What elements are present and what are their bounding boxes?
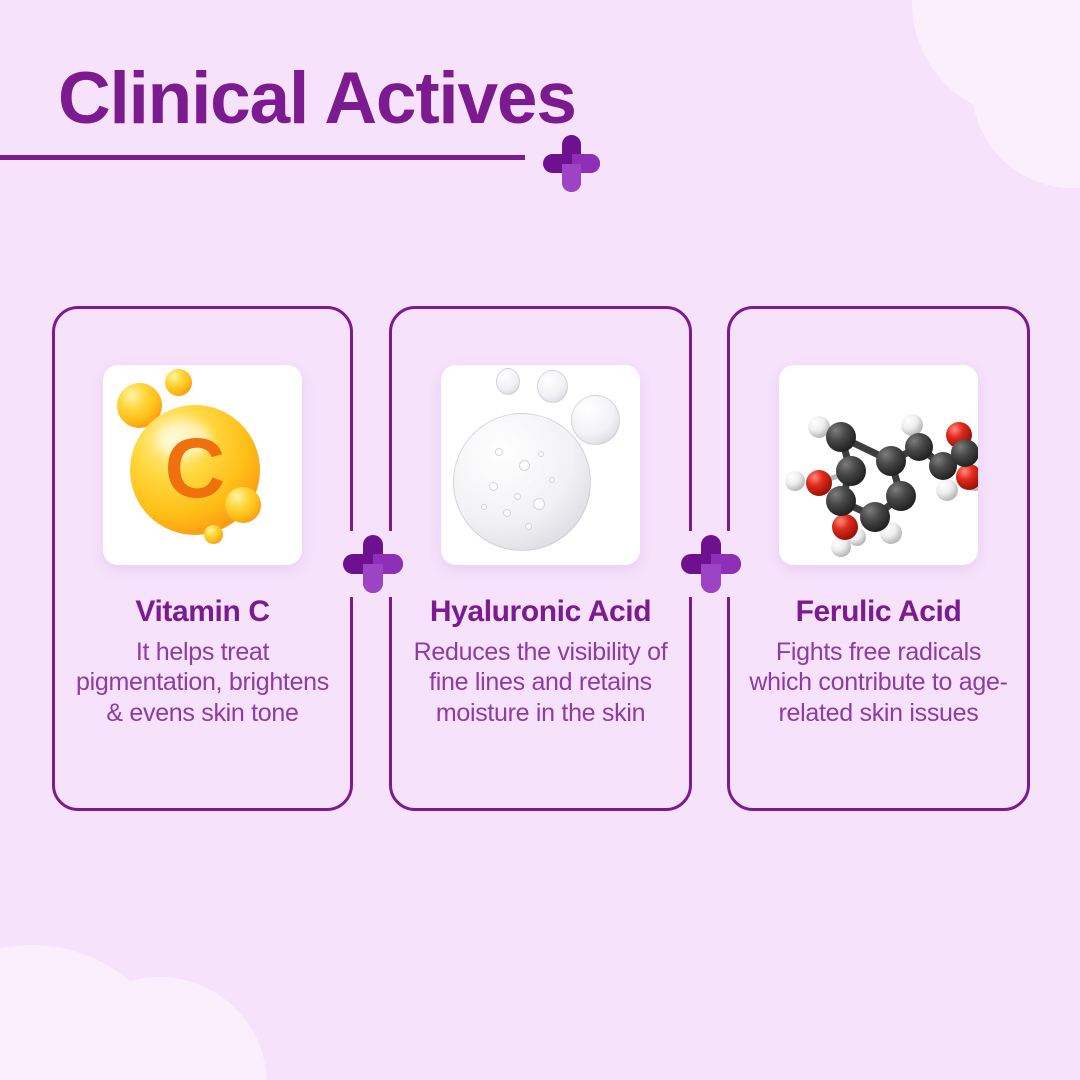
gel-bubble: [514, 493, 521, 500]
plus-cross-icon: [343, 535, 403, 593]
ingredient-name: Vitamin C: [135, 596, 269, 628]
plus-bottom-lobe: [701, 564, 721, 593]
plus-bottom-lobe: [363, 564, 383, 593]
ingredient-card-vitamin-c[interactable]: C Vitamin C It helps treat pigmentation,…: [52, 306, 353, 811]
plus-bottom-lobe: [562, 164, 581, 193]
gel-droplet-3: [571, 395, 620, 445]
vitamin-c-bubble-2: [165, 369, 192, 396]
card-connector-2: [665, 531, 757, 597]
header: Clinical Actives: [0, 62, 1080, 192]
gel-bubble: [503, 509, 511, 517]
ingredient-name: Ferulic Acid: [796, 596, 962, 628]
gel-bubble: [495, 448, 503, 456]
gel-main-droplet: [453, 413, 591, 551]
title-underline-rule: [0, 155, 525, 160]
card-connector-1: [327, 531, 419, 597]
gel-bubble: [525, 523, 532, 530]
plus-cross-icon: [543, 135, 600, 192]
ferulic-acid-molecule-image: [779, 365, 978, 565]
ingredient-description: Reduces the visibility of fine lines and…: [407, 637, 675, 729]
ingredient-description: It helps treat pigmentation, brightens &…: [69, 637, 336, 729]
decorative-circle-bottom-left-2: [0, 945, 182, 1080]
ingredient-card-hyaluronic-acid[interactable]: Hyaluronic Acid Reduces the visibility o…: [389, 306, 692, 811]
hyaluronic-acid-gel-droplet-image: [441, 365, 640, 565]
gel-bubble: [549, 477, 555, 483]
vitamin-c-bubble-4: [204, 525, 223, 544]
plus-cross-icon: [681, 535, 741, 593]
ingredient-name: Hyaluronic Acid: [430, 596, 651, 628]
vitamin-c-bubble-3: [225, 487, 261, 523]
vitamin-c-sphere-image: C: [103, 365, 302, 565]
gel-bubble: [538, 451, 544, 457]
gel-droplet-2: [537, 370, 568, 403]
gel-bubble: [533, 498, 545, 510]
ingredient-card-ferulic-acid[interactable]: Ferulic Acid Fights free radicals which …: [727, 306, 1030, 811]
gel-bubble: [481, 504, 487, 510]
gel-droplet-1: [496, 368, 520, 395]
molecule-diagram-icon: [779, 365, 978, 565]
page-title: Clinical Actives: [58, 62, 576, 135]
poster-canvas: Clinical Actives C Vitamin C It helps tr…: [0, 0, 1080, 1080]
gel-bubble: [519, 460, 530, 471]
gel-bubble: [489, 482, 498, 491]
ingredient-description: Fights free radicals which contribute to…: [745, 637, 1013, 729]
